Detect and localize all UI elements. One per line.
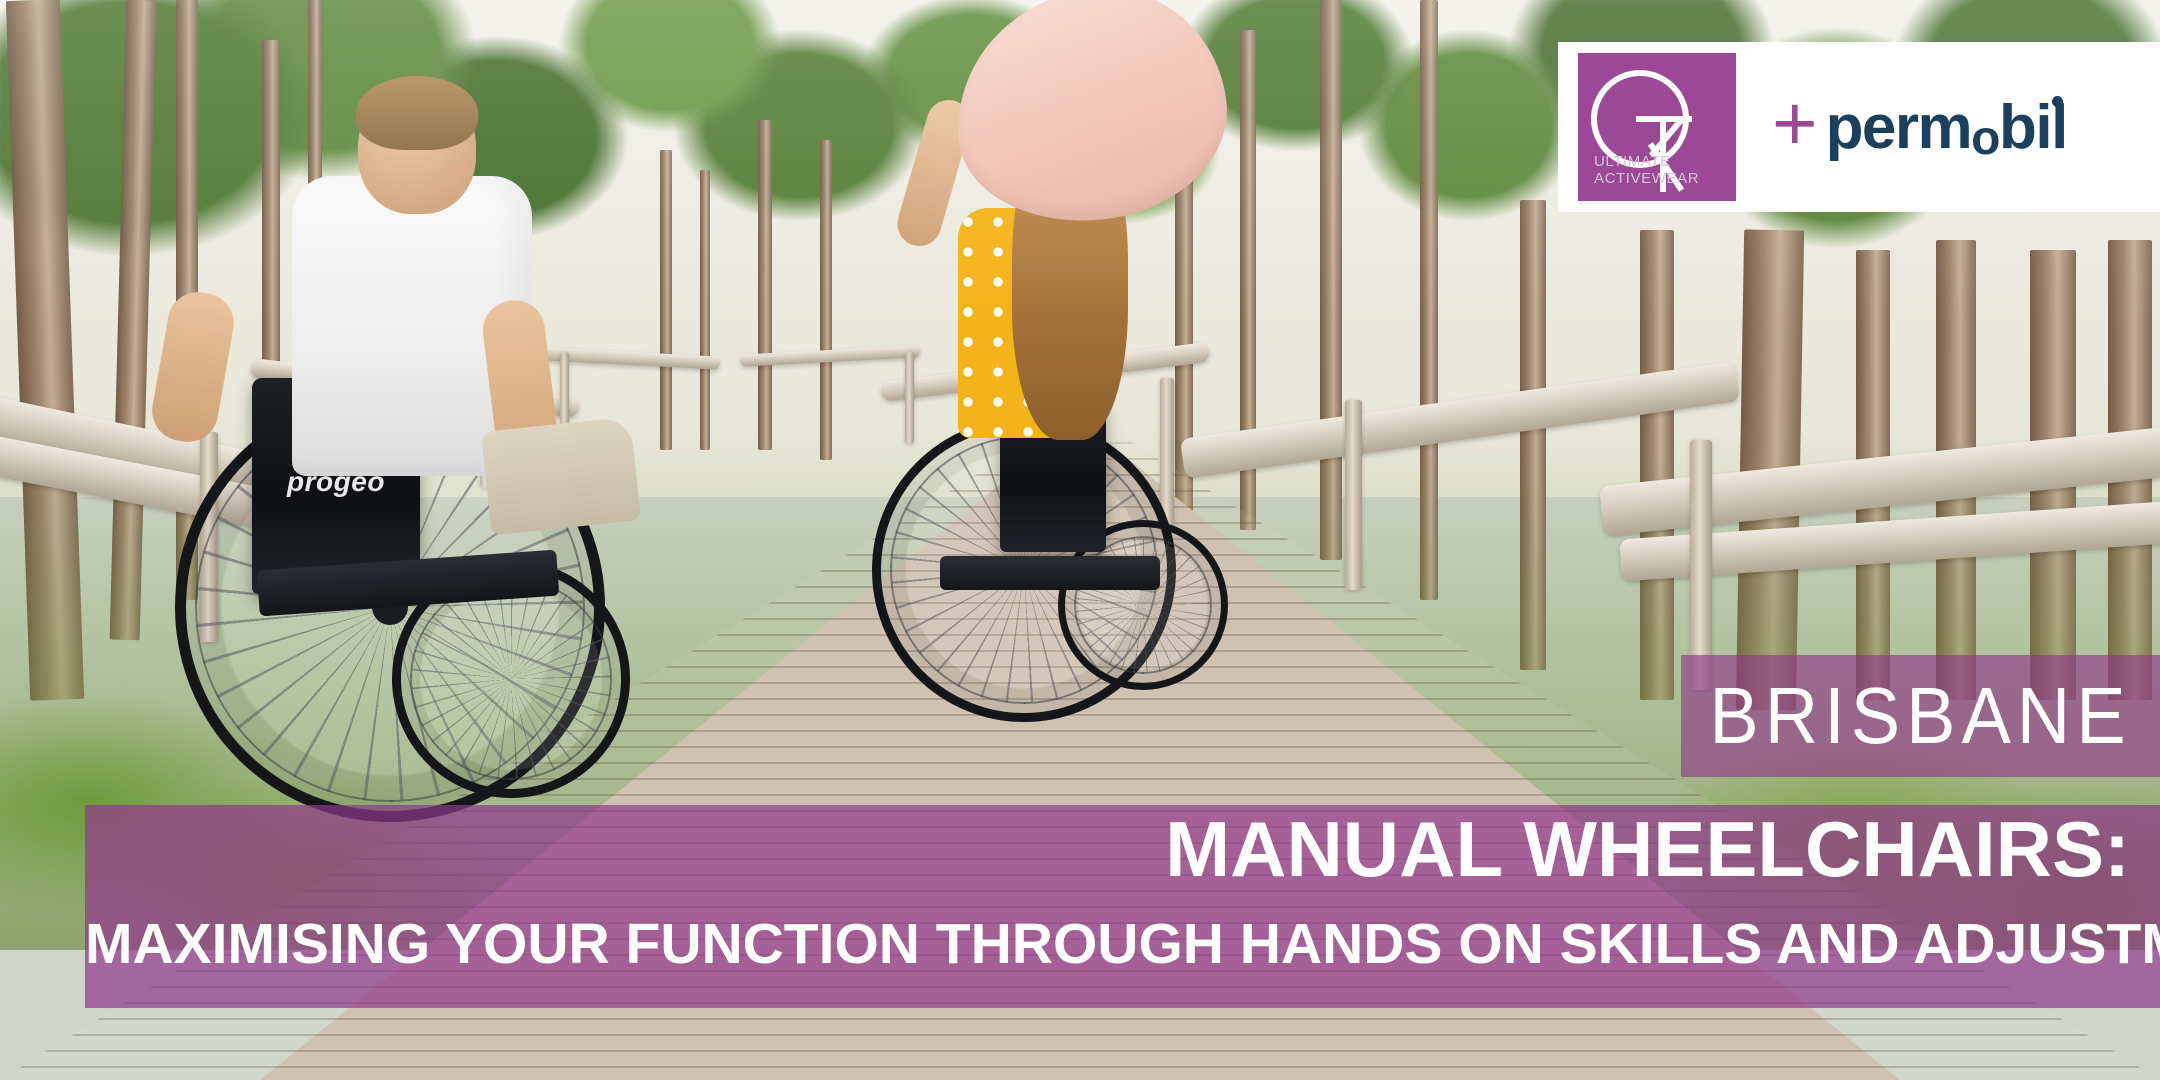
permobil-text-part1: perm [1826, 93, 1972, 162]
permobil-dot-accent [2052, 96, 2063, 107]
gk-subtitle-line1: ULTIMATE [1594, 153, 1699, 170]
location-label: BRISBANE [1709, 676, 2131, 756]
seat-cushion-right [940, 556, 1160, 590]
gk-subtitle-line2: ACTIVEWEAR [1594, 170, 1699, 187]
event-title: MANUAL WHEELCHAIRS: [1165, 797, 2130, 902]
event-subtitle: MAXIMISING YOUR FUNCTION THROUGH HANDS O… [85, 901, 2142, 987]
title-banner: MANUAL WHEELCHAIRS: MAXIMISING YOUR FUNC… [85, 805, 2160, 1008]
event-promo-poster: progeo progeo progeo [0, 0, 2160, 1080]
plus-icon: + [1772, 96, 1818, 151]
location-badge: BRISBANE [1681, 655, 2160, 777]
legs-left [481, 416, 641, 535]
railing-post-r1 [905, 352, 914, 444]
sponsor-logo-card: ULTIMATE ACTIVEWEAR + permobil [1558, 42, 2160, 212]
railing-post-r5 [1690, 440, 1712, 690]
railing-post-r4 [1345, 400, 1362, 590]
gk-logo-mark: ULTIMATE ACTIVEWEAR [1578, 53, 1736, 201]
gk-logo-subtitle: ULTIMATE ACTIVEWEAR [1594, 153, 1699, 187]
permobil-wordmark: permobil [1826, 92, 2067, 163]
permobil-logo: + permobil [1772, 92, 2067, 163]
hair-left [356, 76, 478, 150]
permobil-text-o: o [1971, 111, 1999, 166]
